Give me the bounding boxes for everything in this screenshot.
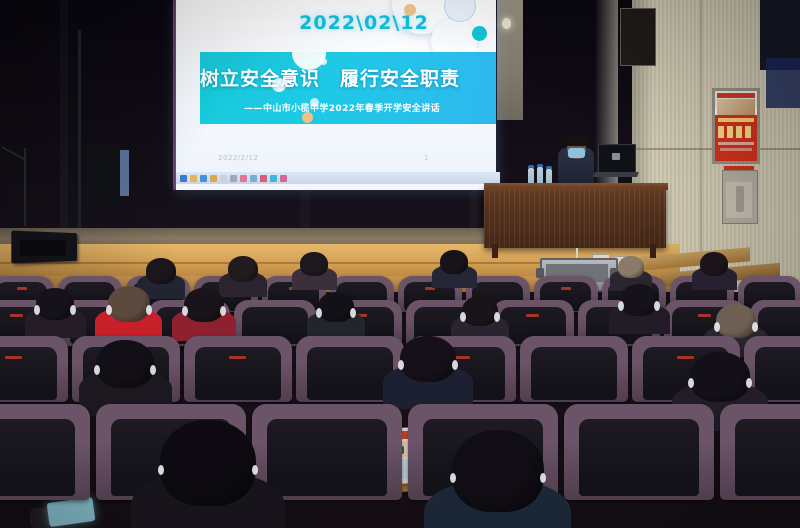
poster-title-bar bbox=[717, 93, 755, 98]
antivirus-icon[interactable] bbox=[260, 175, 267, 182]
attendee bbox=[700, 252, 728, 276]
bottle-cap bbox=[528, 165, 534, 168]
curtain-fold bbox=[60, 0, 68, 236]
poster-heading-text bbox=[718, 118, 754, 122]
face-mask-strap bbox=[150, 365, 156, 375]
bottle-cap bbox=[546, 166, 552, 169]
seat-number-tag bbox=[561, 287, 571, 290]
face-mask-strap bbox=[688, 378, 694, 388]
chat-icon[interactable] bbox=[240, 175, 247, 182]
attendee-red-jacket bbox=[108, 286, 150, 322]
face-mask-strap bbox=[460, 312, 466, 322]
document-icon[interactable] bbox=[220, 175, 227, 182]
face-mask-strap bbox=[158, 465, 164, 475]
start-icon[interactable] bbox=[180, 175, 187, 182]
explorer-icon[interactable] bbox=[190, 175, 197, 182]
speaker-led-strip bbox=[120, 150, 129, 196]
network-icon[interactable] bbox=[270, 175, 277, 182]
wall-frame bbox=[620, 8, 656, 66]
seat-back bbox=[0, 419, 75, 496]
slide-footer-date: 2022/2/12 bbox=[218, 154, 258, 162]
attendee bbox=[400, 336, 456, 382]
microphone-stand bbox=[24, 148, 26, 226]
blue-wall-panel bbox=[766, 58, 800, 108]
face-mask-strap bbox=[70, 305, 76, 315]
attendee bbox=[318, 292, 354, 322]
face-mask-strap bbox=[106, 305, 112, 315]
slide-date-header: 2022\02\12 bbox=[204, 12, 524, 34]
seat-number-tag bbox=[5, 356, 22, 359]
seat-back bbox=[579, 419, 699, 496]
seat-number-tag bbox=[526, 314, 539, 317]
browser-icon[interactable] bbox=[200, 175, 207, 182]
presenter-hair bbox=[566, 136, 587, 146]
face-mask-strap bbox=[316, 308, 322, 318]
speaker-grill bbox=[20, 240, 66, 256]
attendee bbox=[146, 258, 176, 284]
podium-wood-grain bbox=[484, 190, 666, 248]
slide-page-number: 1 bbox=[424, 154, 428, 162]
attendee bbox=[690, 352, 750, 402]
laptop-logo bbox=[612, 153, 620, 160]
face-mask-strap bbox=[618, 301, 624, 311]
seat-number-tag bbox=[677, 356, 694, 359]
face-mask-strap bbox=[220, 306, 226, 316]
face-mask-strap bbox=[398, 360, 404, 370]
stage-pole bbox=[78, 30, 81, 230]
wall-seam bbox=[612, 148, 800, 150]
face-mask-strap bbox=[752, 322, 758, 332]
stage-side-speaker bbox=[86, 145, 120, 205]
face-mask-strap bbox=[94, 365, 100, 375]
face-mask-strap bbox=[540, 473, 546, 483]
windows-taskbar[interactable] bbox=[176, 172, 500, 184]
face-mask-strap bbox=[34, 305, 40, 315]
face-mask-strap bbox=[452, 360, 458, 370]
seat-back bbox=[0, 347, 57, 400]
face-mask-strap bbox=[146, 305, 152, 315]
face-mask-strap bbox=[714, 322, 720, 332]
seat-back bbox=[267, 419, 387, 496]
seat-back bbox=[195, 347, 281, 400]
folder-icon[interactable] bbox=[210, 175, 217, 182]
fire-extinguisher-icon bbox=[736, 186, 744, 212]
face-mask-strap bbox=[494, 312, 500, 322]
attendee bbox=[716, 304, 756, 338]
media-icon[interactable] bbox=[250, 175, 257, 182]
attendee bbox=[618, 256, 644, 278]
face-mask-icon bbox=[568, 148, 585, 158]
attendee bbox=[300, 252, 328, 276]
attendee bbox=[452, 430, 544, 512]
poster-body-text bbox=[718, 142, 754, 145]
attendee bbox=[462, 296, 498, 326]
face-mask-strap bbox=[450, 473, 456, 483]
attendee bbox=[36, 288, 74, 320]
settings-icon[interactable] bbox=[280, 175, 287, 182]
attendee bbox=[620, 284, 658, 316]
attendee bbox=[160, 420, 256, 506]
poster-step-icons bbox=[718, 126, 754, 138]
poster-body-text bbox=[720, 148, 752, 151]
laptop-keyboard bbox=[593, 172, 639, 177]
face-mask-strap bbox=[252, 465, 258, 475]
seat-back bbox=[531, 347, 617, 400]
attendee bbox=[184, 288, 224, 322]
seat-number-tag bbox=[698, 314, 711, 317]
slide-title: 树立安全意识 履行安全职责 bbox=[200, 64, 436, 91]
app-icon[interactable] bbox=[230, 175, 237, 182]
slide-title-band: 树立安全意识 履行安全职责 ——中山市小榄中学2022年春季开学安全讲话 bbox=[200, 52, 496, 124]
face-mask-strap bbox=[350, 308, 356, 318]
slide-subtitle: ——中山市小榄中学2022年春季开学安全讲话 bbox=[200, 101, 440, 114]
seat-back bbox=[735, 419, 800, 496]
seat-number-tag bbox=[10, 314, 23, 317]
attendee bbox=[228, 256, 258, 282]
seat-back bbox=[307, 347, 393, 400]
face-mask-strap bbox=[654, 301, 660, 311]
face-mask-strap bbox=[182, 306, 188, 316]
seat-number-tag bbox=[17, 287, 27, 290]
seat-number-tag bbox=[229, 356, 246, 359]
bottle-cap bbox=[537, 164, 543, 167]
podium-leg bbox=[650, 244, 656, 258]
podium-leg bbox=[492, 244, 498, 258]
poster-illustration bbox=[717, 99, 755, 115]
auditorium-photo: 2022\02\12 树立安全意识 履行安全职责 ——中山市小榄中学2022年春… bbox=[0, 0, 800, 528]
attendee bbox=[96, 340, 154, 388]
face-mask-strap bbox=[746, 378, 752, 388]
attendee bbox=[440, 250, 468, 274]
